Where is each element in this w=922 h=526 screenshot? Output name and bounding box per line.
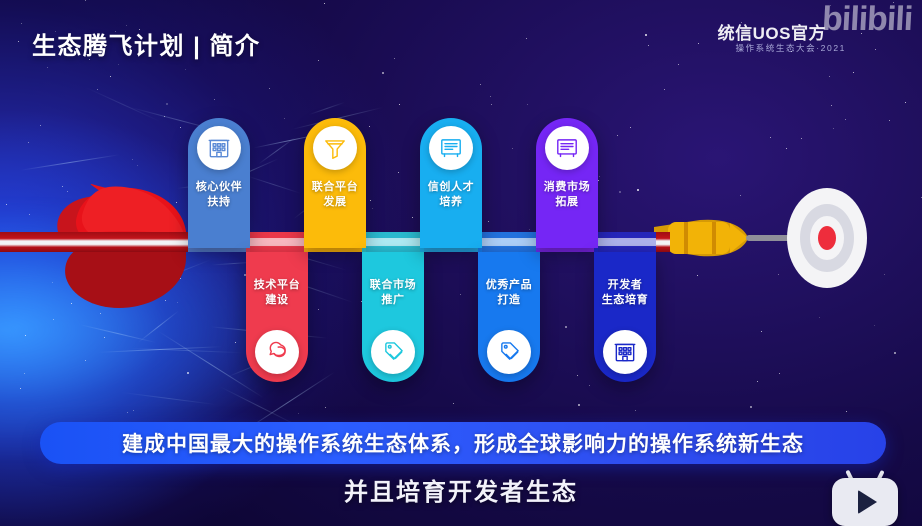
tags-icon [487, 330, 531, 374]
building-icon [197, 126, 241, 170]
watermark-brand: 统信UOS官方 [718, 19, 826, 44]
milestone-label-line1: 核心伙伴 [188, 180, 250, 195]
slide-canvas: 生态腾飞计划 | 简介 统信UOS官方 操作系统生态大会·2021 bilibi… [0, 0, 922, 526]
dart-shaft-highlight [362, 238, 424, 246]
milestone-pill: 核心伙伴扶持 [188, 118, 250, 248]
milestone-pill: 优秀产品打造 [478, 252, 540, 382]
milestone-label-line1: 消费市场 [536, 180, 598, 195]
milestone-pill: 联合市场推广 [362, 252, 424, 382]
milestone-label-line1: 技术平台 [246, 278, 308, 293]
milestone-label-line2: 培养 [420, 195, 482, 210]
milestone-pill: 联合平台发展 [304, 118, 366, 248]
milestone-label-line1: 优秀产品 [478, 278, 540, 293]
dart-shaft-highlight [594, 238, 656, 246]
play-triangle-icon [858, 490, 877, 514]
milestone-label-line1: 信创人才 [420, 180, 482, 195]
milestone-label-line2: 打造 [478, 293, 540, 308]
milestone-pill: 开发者生态培育 [594, 252, 656, 382]
watermark-group: 统信UOS官方 操作系统生态大会·2021 bilibili [618, 4, 918, 60]
milestone-label-line2: 推广 [362, 293, 424, 308]
funnel-icon [313, 126, 357, 170]
play-button[interactable] [826, 468, 904, 526]
milestone-pill-label: 技术平台建设 [246, 278, 308, 308]
certificate-icon [545, 126, 589, 170]
milestone-label-line2: 扶持 [188, 195, 250, 210]
milestone-pill: 技术平台建设 [246, 252, 308, 382]
chat-bubbles-icon [255, 330, 299, 374]
milestone-pill-label: 核心伙伴扶持 [188, 180, 250, 210]
watermark-platform: bilibili [821, 0, 913, 39]
milestone-label-line2: 拓展 [536, 195, 598, 210]
bullseye-target-icon [787, 188, 867, 288]
milestone-pill: 消费市场拓展 [536, 118, 598, 248]
milestone-pill-label: 消费市场拓展 [536, 180, 598, 210]
milestone-pill-label: 联合市场推广 [362, 278, 424, 308]
headline-banner-text: 建成中国最大的操作系统生态体系，形成全球影响力的操作系统新生态 [40, 422, 886, 464]
certificate-icon [429, 126, 473, 170]
building-icon [603, 330, 647, 374]
headline-banner: 建成中国最大的操作系统生态体系，形成全球影响力的操作系统新生态 [40, 422, 886, 464]
milestone-pill: 信创人才培养 [420, 118, 482, 248]
dart-shaft-highlight [246, 238, 308, 246]
milestone-label-line2: 建设 [246, 293, 308, 308]
watermark-subtitle: 操作系统生态大会·2021 [735, 42, 846, 54]
milestone-pill-label: 信创人才培养 [420, 180, 482, 210]
page-title: 生态腾飞计划 | 简介 [32, 26, 261, 61]
tags-icon [371, 330, 415, 374]
milestone-pill-label: 优秀产品打造 [478, 278, 540, 308]
dart-needle-icon [746, 235, 808, 241]
milestone-label-line1: 联合市场 [362, 278, 424, 293]
milestone-pill-label: 联合平台发展 [304, 180, 366, 210]
dart-shaft-highlight [478, 238, 540, 246]
sub-headline: 并且培育开发者生态 [0, 472, 922, 507]
milestone-label-line2: 生态培育 [594, 293, 656, 308]
milestone-pill-label: 开发者生态培育 [594, 278, 656, 308]
milestone-label-line1: 联合平台 [304, 180, 366, 195]
milestone-label-line2: 发展 [304, 195, 366, 210]
milestone-label-line1: 开发者 [594, 278, 656, 293]
